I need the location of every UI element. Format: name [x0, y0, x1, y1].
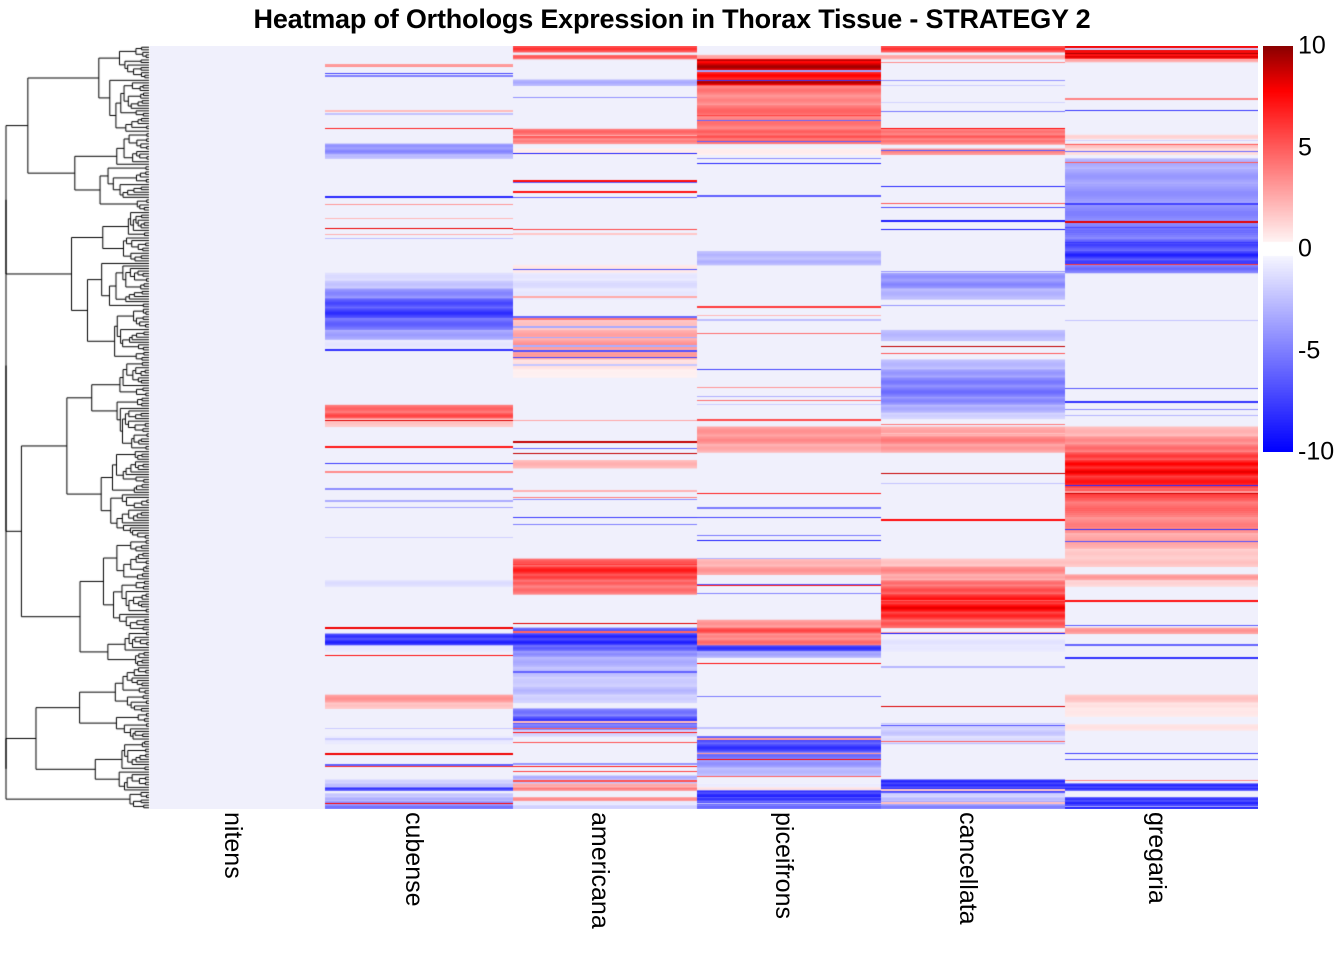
colorbar-tick-10: 10	[1298, 34, 1326, 59]
row-dendrogram	[2, 46, 150, 809]
dendrogram-canvas	[2, 46, 150, 809]
column-label-cancellata: cancellata	[953, 812, 982, 925]
heatmap-figure: Heatmap of Orthologs Expression in Thora…	[0, 0, 1344, 960]
colorbar-tick-neg5: -5	[1298, 338, 1320, 363]
column-label-nitens: nitens	[218, 812, 247, 879]
page-title: Heatmap of Orthologs Expression in Thora…	[0, 4, 1344, 35]
column-label-gregaria: gregaria	[1142, 812, 1171, 904]
column-axis-labels: nitenscubenseamericanapiceifronscancella…	[150, 812, 1258, 960]
colorbar-tick-0: 0	[1298, 237, 1312, 262]
colorbar-gradient	[1263, 46, 1293, 452]
heatmap-canvas	[150, 46, 1258, 809]
colorbar-tick-neg10: -10	[1298, 440, 1334, 465]
column-label-cubense: cubense	[399, 812, 428, 907]
column-label-americana: americana	[585, 812, 614, 929]
colorbar-tick-5: 5	[1298, 135, 1312, 160]
colorbar-tick-labels: 1050-5-10	[1298, 46, 1344, 452]
heatmap-grid	[150, 46, 1258, 809]
colorbar	[1263, 46, 1293, 452]
column-label-piceifrons: piceifrons	[769, 812, 798, 919]
